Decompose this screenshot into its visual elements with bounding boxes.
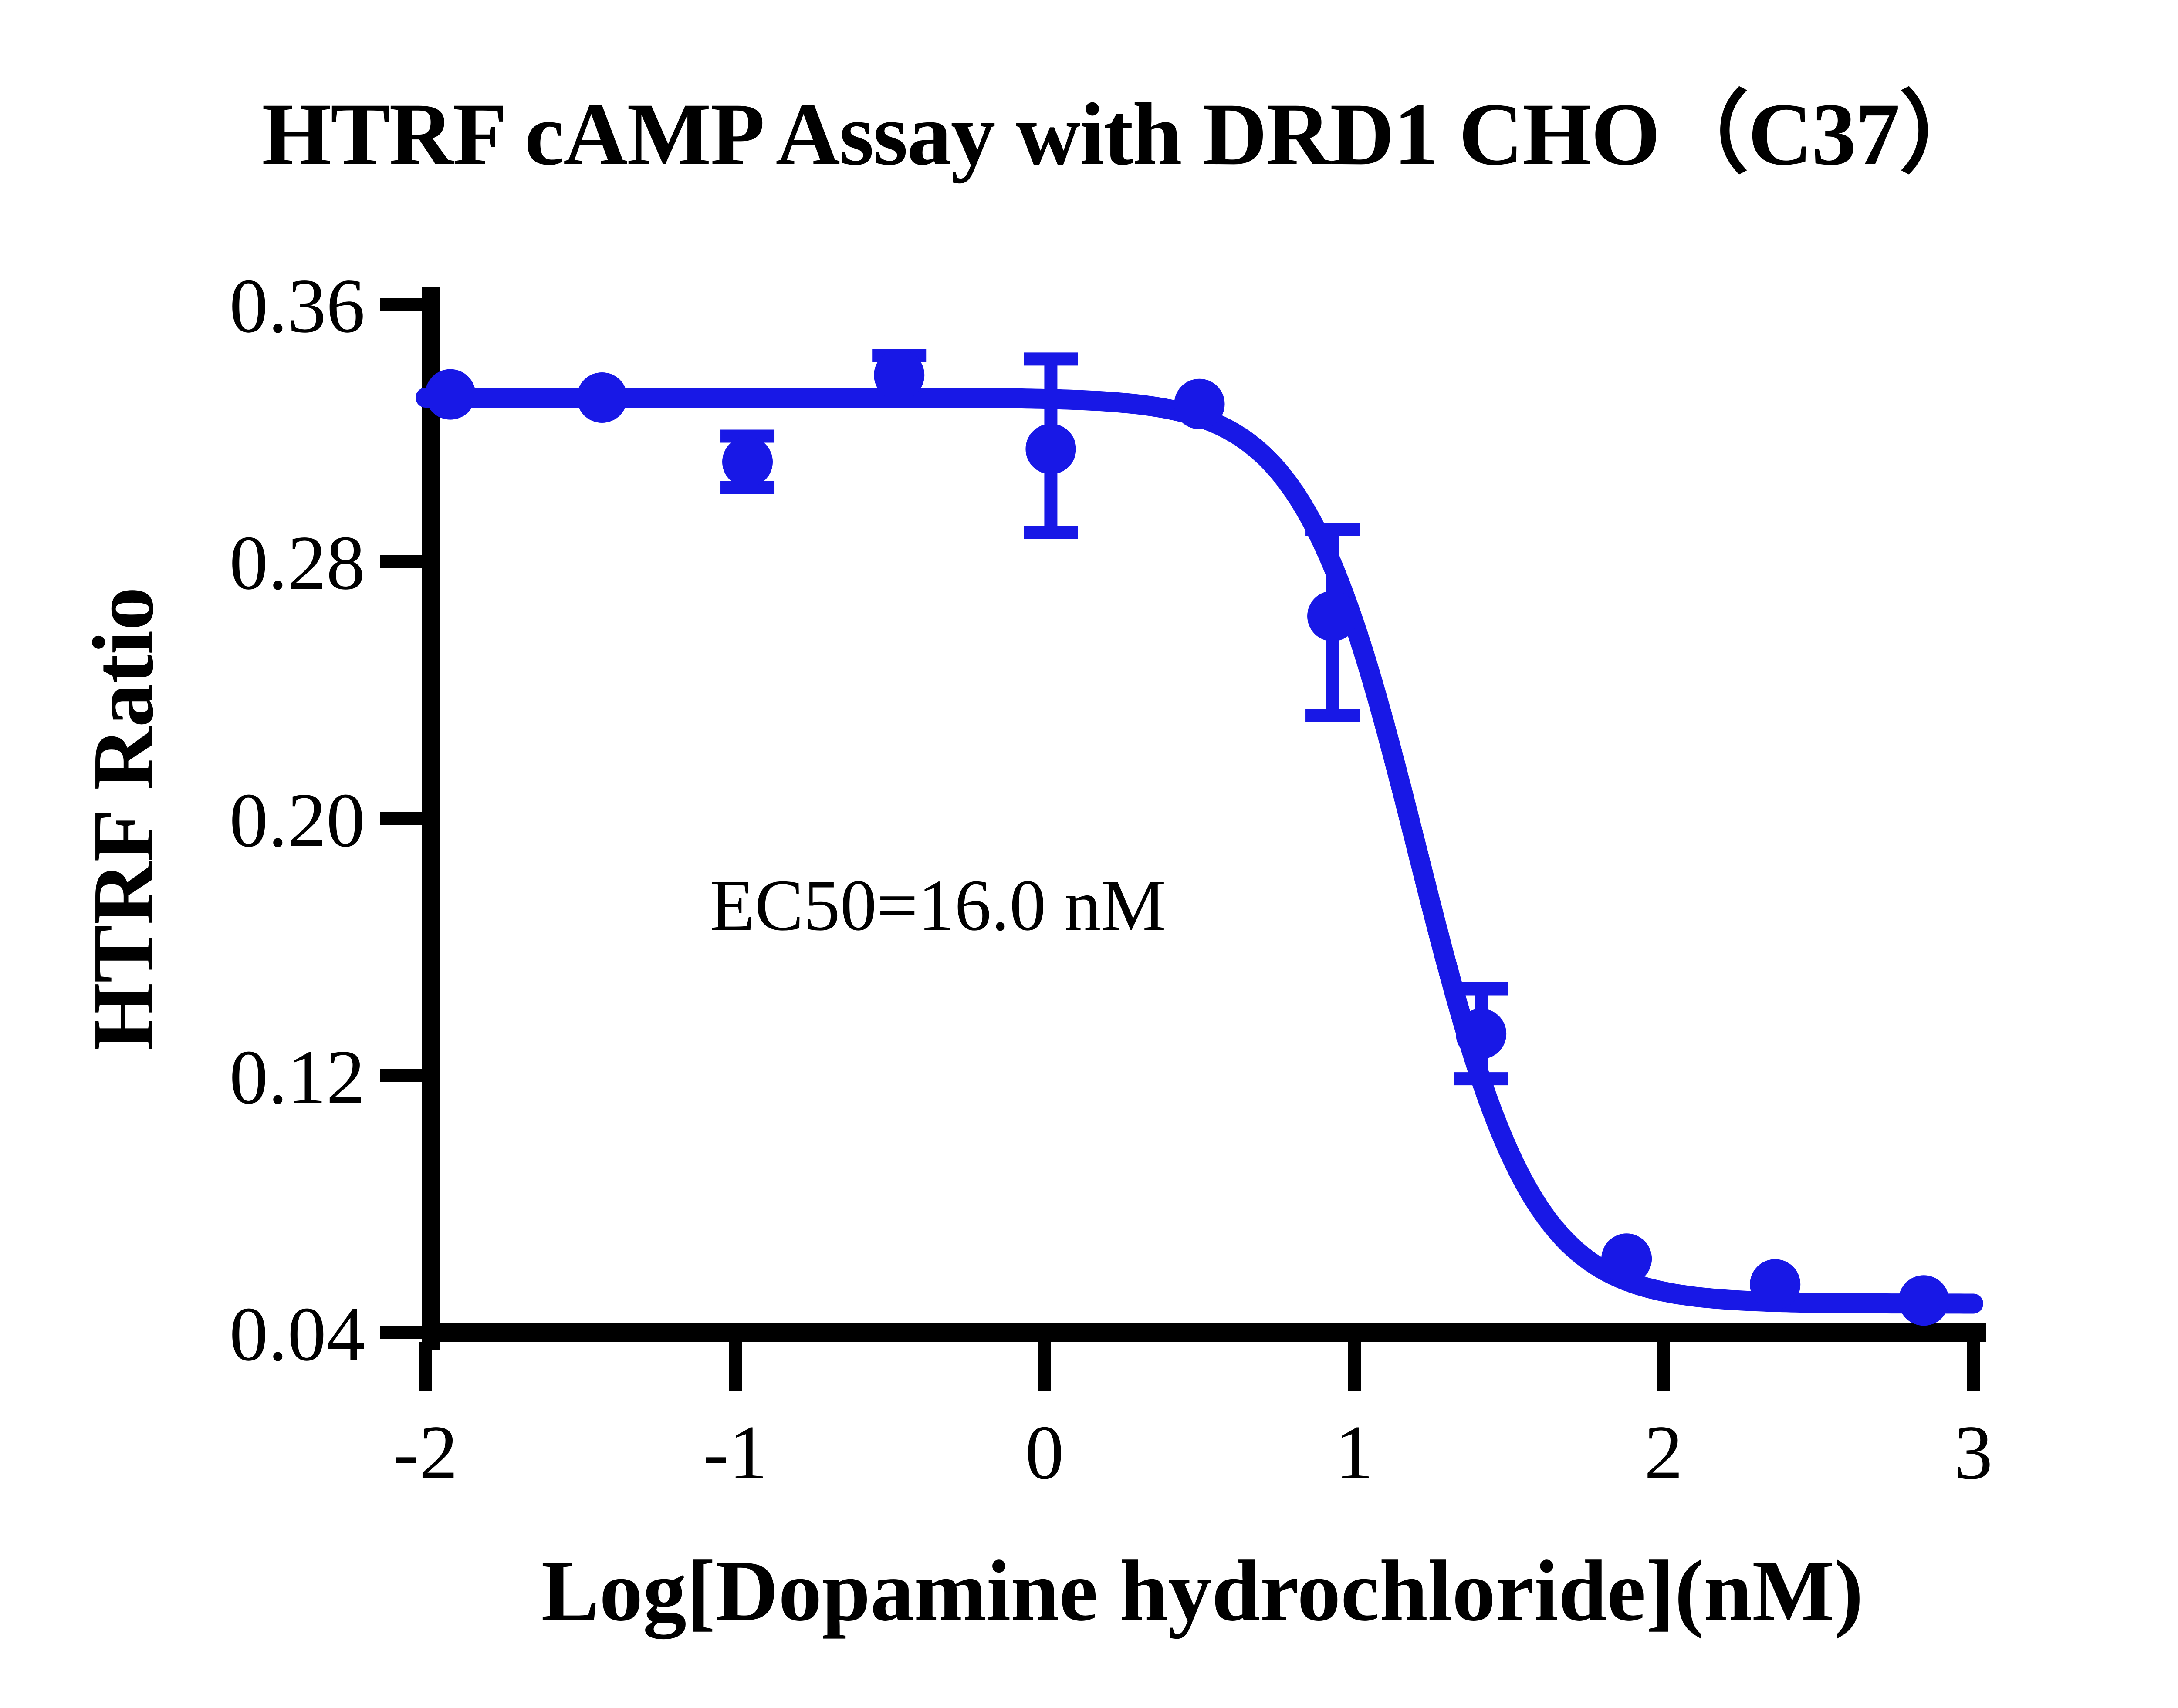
y-axis-title: HTRF Ratio [75,587,172,1051]
y-tick-label: 0.36 [230,263,365,349]
y-tick-label: 0.04 [230,1291,365,1377]
data-point-marker [874,350,924,400]
x-axis-title: Log[Dopamine hydrochloride](nM) [541,1543,1863,1639]
figure-canvas: HTRF cAMP Assay with DRD1 CHO（C37） 0.36 … [0,0,2178,1708]
data-point-marker [1025,424,1076,474]
data-point-marker [1750,1259,1800,1310]
ec50-annotation: EC50=16.0 nM [710,865,1166,946]
x-tick-label: -1 [703,1409,768,1495]
x-tick-label: 3 [1954,1409,1993,1495]
y-tick-label: 0.20 [230,777,365,863]
data-point-marker [1456,1009,1506,1059]
axis-lines [422,287,1986,1350]
x-tick-label: -2 [393,1409,458,1495]
data-point-marker [1307,591,1358,641]
y-tick-label: 0.12 [230,1034,365,1120]
data-point-series [425,350,1949,1326]
data-point-marker [577,372,627,423]
fit-curve [426,398,1973,1304]
x-tick-label: 0 [1025,1409,1064,1495]
data-point-marker [722,437,773,487]
x-axis-ticks [426,1342,1973,1391]
dose-response-plot: 0.36 0.28 0.20 0.12 0.04 -2 -1 0 1 2 3 L… [0,0,2178,1708]
y-tick-label: 0.28 [230,520,365,606]
data-point-marker [1601,1233,1652,1284]
data-point-marker [1898,1275,1949,1326]
data-point-marker [425,369,476,420]
x-axis-tick-labels: -2 -1 0 1 2 3 [393,1409,1993,1495]
data-point-marker [1174,379,1225,429]
x-tick-label: 1 [1335,1409,1374,1495]
x-tick-label: 2 [1644,1409,1683,1495]
y-axis-tick-labels: 0.36 0.28 0.20 0.12 0.04 [230,263,365,1377]
